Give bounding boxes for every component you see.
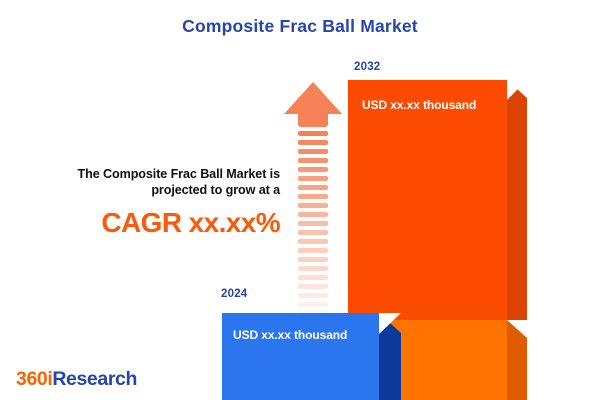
- arrow-band: [298, 149, 328, 154]
- arrow-band: [298, 293, 328, 298]
- arrow-band: [298, 275, 328, 280]
- bar-2032-base-side-face: [507, 320, 527, 400]
- arrow-band: [298, 158, 328, 163]
- statement-line-2: projected to grow at a: [18, 182, 280, 198]
- arrow-band: [298, 239, 328, 244]
- arrow-band: [298, 140, 328, 145]
- brand-logo[interactable]: 360iResearch: [16, 368, 137, 391]
- bar-value-2032: USD xx.xx thousand: [362, 98, 476, 112]
- arrow-band: [298, 221, 328, 226]
- arrow-band: [298, 167, 328, 172]
- arrow-band: [298, 203, 328, 208]
- infographic-canvas: Composite Frac Ball Market The Composite…: [0, 0, 600, 400]
- bar-2032-side-face: [507, 80, 527, 320]
- arrow-band: [298, 257, 328, 262]
- cagr-value: CAGR xx.xx%: [18, 207, 280, 239]
- arrow-band-stack: [298, 131, 328, 289]
- brand-logo-suffix: Research: [52, 368, 137, 390]
- arrow-band: [298, 284, 328, 289]
- arrow-band: [298, 212, 328, 217]
- bar-value-2024: USD xx.xx thousand: [233, 328, 347, 342]
- arrow-band: [298, 194, 328, 199]
- year-label-2024: 2024: [221, 288, 247, 300]
- arrow-band: [298, 176, 328, 181]
- arrow-band: [298, 302, 328, 307]
- arrow-band: [298, 131, 328, 136]
- statement-block: The Composite Frac Ball Market is projec…: [18, 166, 280, 239]
- growth-arrow-icon: [284, 82, 342, 290]
- arrow-head-shape: [284, 82, 342, 114]
- arrow-band: [298, 248, 328, 253]
- statement-line-1: The Composite Frac Ball Market is: [18, 166, 280, 182]
- bar-2024-front-face: [222, 313, 379, 400]
- arrow-band: [298, 230, 328, 235]
- brand-logo-prefix: 360i: [16, 368, 52, 390]
- arrow-band: [298, 185, 328, 190]
- arrow-neck-shape: [298, 113, 328, 127]
- year-label-2032: 2032: [354, 61, 380, 73]
- page-title: Composite Frac Ball Market: [0, 16, 600, 37]
- bar-2032-front-face: [348, 80, 507, 320]
- arrow-band: [298, 266, 328, 271]
